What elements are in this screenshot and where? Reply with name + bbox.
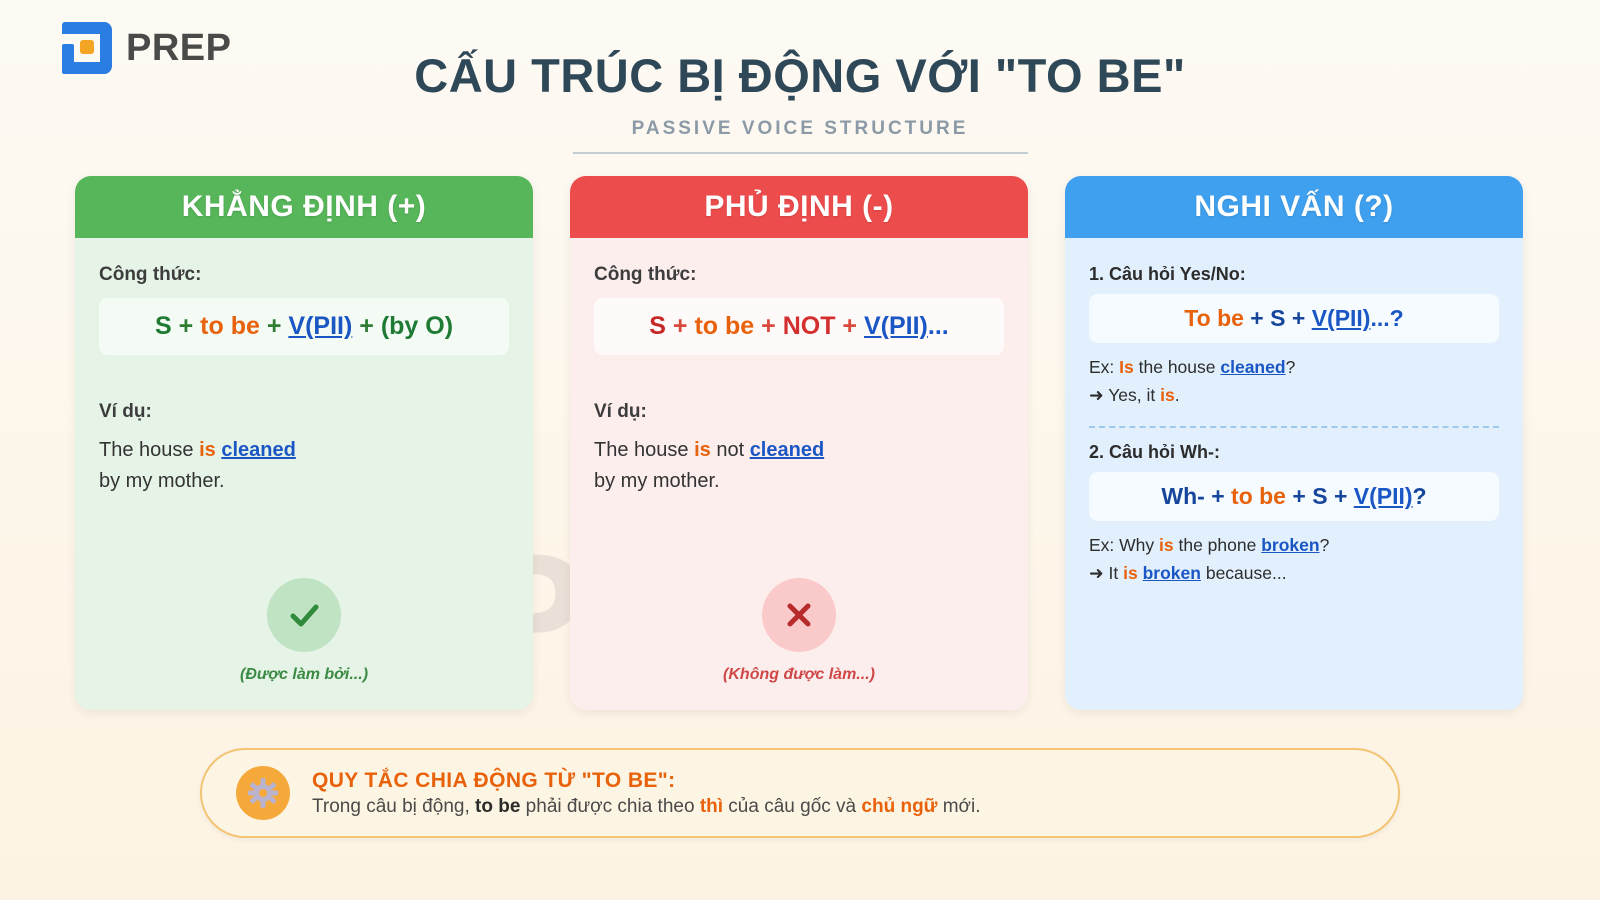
negative-mark-caption: (Không được làm...)	[570, 666, 1028, 684]
arrow-icon: ➜	[1089, 385, 1104, 405]
formula-part-tobe: to be	[694, 312, 754, 340]
formula-part-tobe: to be	[200, 312, 260, 340]
example-mid: the phone	[1174, 535, 1262, 555]
example-mid: the house	[1134, 357, 1221, 377]
example-negative: The house is not cleaned by my mother.	[594, 435, 1004, 497]
formula-part-pii: V(PII)	[288, 312, 352, 340]
answer-suffix: .	[1175, 385, 1180, 405]
example-pii: cleaned	[221, 439, 295, 461]
formula-plus: +	[1250, 305, 1263, 331]
example-verb: is	[694, 439, 711, 461]
example-text-part2: not	[711, 439, 750, 461]
example-wh: Ex: Why is the phone broken? ➜ It is bro…	[1089, 531, 1499, 587]
arrow-icon: ➜	[1089, 563, 1104, 583]
formula-plus: +	[842, 312, 857, 340]
note-content: QUY TẮC CHIA ĐỘNG TỪ "TO BE": Trong câu …	[312, 769, 981, 818]
formula-part-tobe: to be	[1231, 483, 1286, 509]
answer-verb: is	[1160, 385, 1175, 405]
wh-label: 2. Câu hỏi Wh-:	[1089, 442, 1499, 463]
example-pii: cleaned	[1220, 357, 1285, 377]
note-text-b1: to be	[475, 796, 520, 817]
note-text-p1: Trong câu bị động,	[312, 796, 475, 817]
note-title: QUY TẮC CHIA ĐỘNG TỪ "TO BE":	[312, 769, 981, 793]
formula-plus: +	[761, 312, 776, 340]
card-affirmative-header: KHẲNG ĐỊNH (+)	[75, 176, 533, 238]
answer-yesno: ➜ Yes, it is.	[1089, 381, 1499, 409]
example-yesno: Ex: Is the house cleaned? ➜ Yes, it is.	[1089, 353, 1499, 409]
formula-label: Công thức:	[594, 264, 1004, 286]
formula-part-byo: (by O)	[381, 312, 453, 340]
formula-yesno: To be + S + V(PII)...?	[1089, 294, 1499, 343]
example-pii: cleaned	[750, 439, 824, 461]
affirmative-mark-caption: (Được làm bởi...)	[75, 666, 533, 684]
example-line2: by my mother.	[99, 466, 509, 497]
formula-part-pii: V(PII)	[1312, 305, 1371, 331]
formula-affirmative: S + to be + V(PII) + (by O)	[99, 298, 509, 355]
formula-plus: +	[179, 312, 194, 340]
formula-plus: +	[267, 312, 282, 340]
card-question: NGHI VẤN (?) 1. Câu hỏi Yes/No: To be + …	[1065, 176, 1523, 710]
example-verb: is	[1159, 535, 1174, 555]
card-negative: PHỦ ĐỊNH (-) Công thức: S + to be + NOT …	[570, 176, 1028, 710]
note-text-p4: mới.	[937, 796, 980, 817]
answer-prefix: It	[1104, 563, 1123, 583]
formula-part-subject: S	[1270, 305, 1285, 331]
formula-part-subject: S	[649, 312, 666, 340]
answer-suffix: because...	[1201, 563, 1287, 583]
note-text-o1: thì	[700, 796, 723, 817]
formula-wh: Wh- + to be + S + V(PII)?	[1089, 472, 1499, 521]
example-text-part1: The house	[594, 439, 694, 461]
formula-plus: +	[1292, 305, 1305, 331]
title-block: CẤU TRÚC BỊ ĐỘNG VỚI "TO BE" PASSIVE VOI…	[0, 50, 1600, 154]
example-line2: by my mother.	[594, 466, 1004, 497]
card-affirmative: KHẲNG ĐỊNH (+) Công thức: S + to be + V(…	[75, 176, 533, 710]
formula-negative: S + to be + NOT + V(PII)...	[594, 298, 1004, 355]
example-label: Ví dụ:	[99, 401, 509, 423]
answer-wh: ➜ It is broken because...	[1089, 559, 1499, 587]
infographic-page: PREP CẤU TRÚC BỊ ĐỘNG VỚI "TO BE" PASSIV…	[0, 0, 1600, 900]
formula-part-subject: S	[155, 312, 172, 340]
formula-part-wh: Wh-	[1161, 483, 1204, 509]
formula-dots: ...	[928, 312, 949, 340]
formula-part-not: NOT	[783, 312, 836, 340]
negative-mark-zone: (Không được làm...)	[570, 578, 1028, 684]
formula-part-subject: S	[1312, 483, 1327, 509]
card-question-header: NGHI VẤN (?)	[1065, 176, 1523, 238]
formula-part-tobe: To be	[1184, 305, 1244, 331]
card-negative-body: Công thức: S + to be + NOT + V(PII)... V…	[570, 238, 1028, 710]
example-verb: Is	[1119, 357, 1134, 377]
check-circle-icon	[267, 578, 341, 652]
note-text-p3: của câu gốc và	[723, 796, 861, 817]
page-title: CẤU TRÚC BỊ ĐỘNG VỚI "TO BE"	[0, 50, 1600, 102]
formula-plus: +	[673, 312, 688, 340]
cards-row: KHẲNG ĐỊNH (+) Công thức: S + to be + V(…	[75, 176, 1525, 710]
example-affirmative: The house is cleaned by my mother.	[99, 435, 509, 497]
answer-pii: broken	[1143, 563, 1201, 583]
answer-verb: is	[1123, 563, 1138, 583]
card-question-body: 1. Câu hỏi Yes/No: To be + S + V(PII)...…	[1065, 238, 1523, 710]
answer-prefix: Yes, it	[1104, 385, 1160, 405]
affirmative-mark-zone: (Được làm bởi...)	[75, 578, 533, 684]
example-suffix: ?	[1320, 535, 1330, 555]
title-divider	[573, 152, 1028, 154]
formula-plus: +	[359, 312, 374, 340]
note-text: Trong câu bị động, to be phải được chia …	[312, 796, 981, 818]
example-label: Ví dụ:	[594, 401, 1004, 423]
formula-plus: +	[1334, 483, 1347, 509]
yesno-label: 1. Câu hỏi Yes/No:	[1089, 264, 1499, 285]
card-negative-header: PHỦ ĐỊNH (-)	[570, 176, 1028, 238]
formula-plus: +	[1292, 483, 1305, 509]
page-subtitle: PASSIVE VOICE STRUCTURE	[0, 118, 1600, 140]
example-prefix: Ex:	[1089, 357, 1119, 377]
example-text-part1: The house	[99, 439, 199, 461]
formula-label: Công thức:	[99, 264, 509, 286]
formula-plus: +	[1211, 483, 1224, 509]
card-affirmative-body: Công thức: S + to be + V(PII) + (by O) V…	[75, 238, 533, 710]
note-text-p2: phải được chia theo	[520, 796, 699, 817]
example-suffix: ?	[1286, 357, 1296, 377]
formula-tail: ...?	[1370, 305, 1403, 331]
example-verb: is	[199, 439, 216, 461]
formula-part-pii: V(PII)	[1354, 483, 1413, 509]
rule-note: QUY TẮC CHIA ĐỘNG TỪ "TO BE": Trong câu …	[200, 748, 1400, 838]
formula-tail: ?	[1413, 483, 1427, 509]
example-pii: broken	[1261, 535, 1319, 555]
example-prefix: Ex: Why	[1089, 535, 1159, 555]
formula-part-pii: V(PII)	[864, 312, 928, 340]
gear-icon	[236, 766, 290, 820]
question-divider	[1089, 426, 1499, 428]
x-circle-icon	[762, 578, 836, 652]
note-text-o2: chủ ngữ	[861, 796, 937, 817]
